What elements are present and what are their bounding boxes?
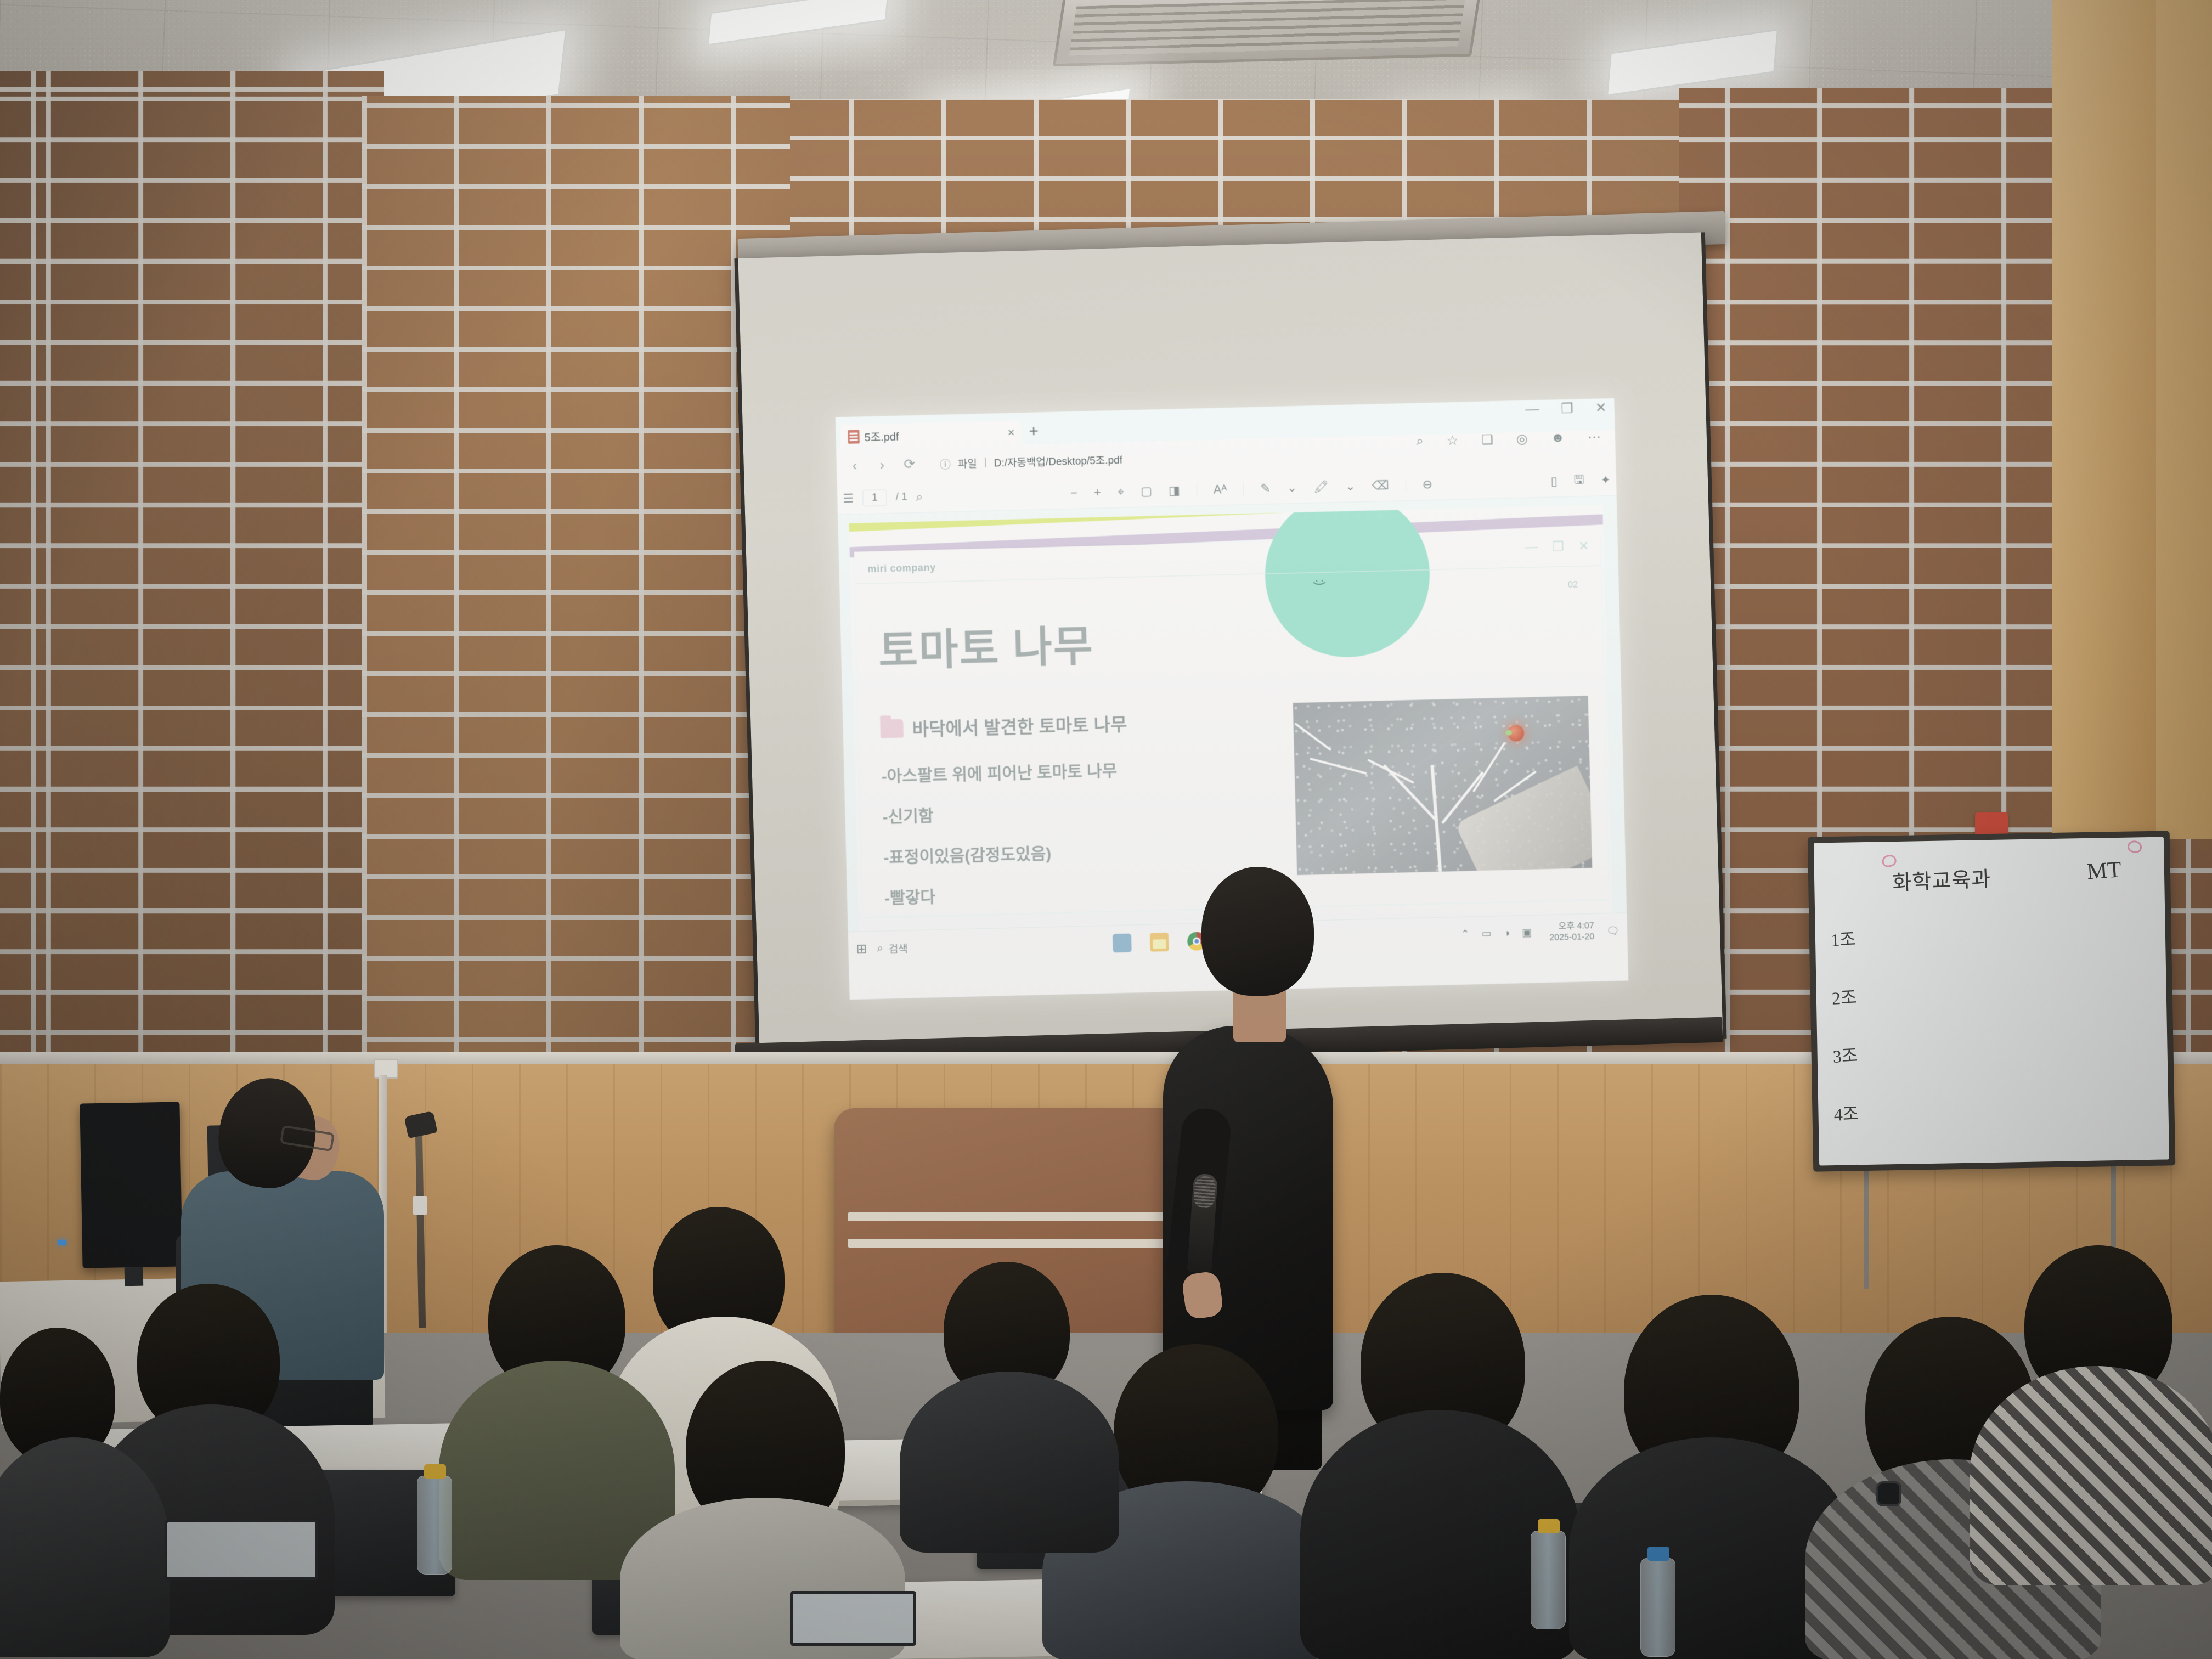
whiteboard-surface: 화학교육과 MT 1조 2조 3조 4조 5조 bbox=[1814, 837, 2169, 1165]
windows-start-icon[interactable]: ⊞ bbox=[856, 941, 867, 957]
slide-window-controls: — ❐ ✕ bbox=[1525, 538, 1589, 556]
address-separator: | bbox=[984, 456, 987, 469]
zoom-in-icon[interactable]: + bbox=[1094, 485, 1101, 499]
water-bottle bbox=[417, 1476, 452, 1575]
page-view-icon[interactable]: ◨ bbox=[1169, 483, 1180, 498]
slide-bullet: -표정이있음(감정도있음) bbox=[883, 834, 1272, 868]
pdf-page-area: :) — ❐ ✕ miri company 02 토마토 나무 + bbox=[838, 496, 1627, 932]
more-tools-icon[interactable]: ▯ bbox=[1550, 474, 1558, 488]
whiteboard-team-row: 5조 bbox=[1834, 1158, 1860, 1165]
taskbar-app-icons bbox=[932, 925, 1461, 957]
lecture-room-scene: 5조.pdf × + — ❐ ✕ ‹ › ⟳ ⓘ 파일 | bbox=[0, 0, 2212, 1659]
browser-essentials-icon[interactable]: ◎ bbox=[1516, 431, 1528, 448]
slide-card: :) — ❐ ✕ miri company 02 토마토 나무 + bbox=[854, 533, 1609, 917]
whiteboard-subtitle: MT bbox=[2086, 856, 2122, 885]
bottle-cap bbox=[424, 1464, 446, 1479]
microphone-clip bbox=[413, 1196, 427, 1215]
whiteboard-title: 화학교육과 bbox=[1892, 862, 1991, 896]
water-bottle bbox=[1531, 1531, 1566, 1629]
slide-header-rule bbox=[855, 565, 1601, 584]
draw-icon[interactable]: ✎ bbox=[1260, 481, 1271, 495]
pdf-page-total: / 1 bbox=[895, 491, 907, 504]
whiteboard-team-row: 2조 bbox=[1831, 984, 1858, 1010]
reading-mode-icon[interactable]: ⊖ bbox=[1422, 477, 1432, 491]
taskbar-search-label: 검색 bbox=[888, 941, 908, 956]
copilot-icon[interactable]: ✦ bbox=[1600, 472, 1611, 487]
laptop[interactable] bbox=[165, 1520, 318, 1580]
clock-date: 2025-01-20 bbox=[1549, 931, 1594, 943]
slide-page-number: 02 bbox=[1567, 579, 1578, 590]
slide-smiley-face: :) bbox=[1313, 579, 1328, 585]
slide-photo-tomato-branch bbox=[1291, 694, 1594, 877]
settings-more-icon[interactable]: ⋯ bbox=[1588, 429, 1601, 445]
wall-shading bbox=[362, 96, 790, 1204]
network-icon[interactable]: ▭ bbox=[1481, 928, 1492, 940]
address-url-text: D:/자동백업/Desktop/5조.pdf bbox=[994, 452, 1122, 470]
slide-section-heading-text: 바닥에서 발견한 토마토 나무 bbox=[912, 710, 1127, 742]
pdf-page-controls: ☰ 1 / 1 ⌕ bbox=[843, 486, 1041, 507]
laptop[interactable] bbox=[790, 1591, 916, 1646]
slide-minimize-icon: — bbox=[1525, 539, 1538, 556]
tab-close-icon[interactable]: × bbox=[996, 425, 1014, 440]
slide-section-heading: 바닥에서 발견한 토마토 나무 bbox=[880, 706, 1268, 742]
file-explorer-icon[interactable] bbox=[1149, 932, 1169, 951]
pc-power-led bbox=[58, 1240, 66, 1245]
notification-icon[interactable]: 🗨 bbox=[1606, 924, 1620, 938]
whiteboard-team-row: 3조 bbox=[1832, 1042, 1858, 1068]
pdf-action-group: ▯ 🖫 ✦ bbox=[1463, 469, 1611, 494]
minimize-button[interactable]: — bbox=[1525, 401, 1539, 418]
left-brick-wall bbox=[0, 71, 384, 1218]
laptop-screen bbox=[167, 1522, 315, 1577]
pdf-page-current[interactable]: 1 bbox=[862, 489, 887, 506]
whiteboard-team-row: 4조 bbox=[1833, 1099, 1859, 1126]
slide-title: 토마토 나무 bbox=[878, 612, 1094, 679]
address-kind-label: 파일 bbox=[958, 455, 978, 471]
read-aloud-icon[interactable]: Aᴬ bbox=[1213, 482, 1227, 497]
fit-to-page-icon[interactable]: ⌖ bbox=[1118, 484, 1125, 499]
draw-color-chevron-down-icon[interactable]: ⌄ bbox=[1287, 480, 1297, 494]
whiteboard: 화학교육과 MT 1조 2조 3조 4조 5조 bbox=[1808, 831, 2176, 1171]
flower-doodle-icon bbox=[2126, 839, 2143, 854]
close-button[interactable]: ✕ bbox=[1595, 399, 1607, 416]
zoom-out-icon[interactable]: − bbox=[1070, 486, 1077, 500]
whiteboard-leg bbox=[1864, 1163, 1869, 1289]
maximize-button[interactable]: ❐ bbox=[1561, 400, 1573, 417]
collections-icon[interactable]: ❏ bbox=[1481, 432, 1493, 448]
erase-icon[interactable]: ⌫ bbox=[1372, 478, 1389, 493]
bottle-cap bbox=[1647, 1547, 1669, 1561]
slide-bullet: -신기함 bbox=[882, 794, 1271, 827]
new-tab-button[interactable]: + bbox=[1029, 422, 1039, 441]
show-hidden-icons-chevron-up-icon[interactable]: ⌃ bbox=[1461, 928, 1470, 941]
search-icon[interactable]: ⌕ bbox=[1416, 433, 1424, 449]
smartwatch bbox=[1876, 1481, 1901, 1506]
left-corner-brick-wall bbox=[362, 96, 790, 1204]
save-icon[interactable]: 🖫 bbox=[1573, 470, 1584, 491]
site-info-icon[interactable]: ⓘ bbox=[939, 455, 951, 471]
clock-time: 오후 4:07 bbox=[1549, 920, 1594, 932]
profile-icon[interactable]: ☻ bbox=[1550, 430, 1565, 447]
highlight-color-chevron-down-icon[interactable]: ⌄ bbox=[1345, 479, 1356, 493]
whiteboard-team-list: 1조 2조 3조 4조 5조 bbox=[1831, 926, 1861, 1165]
search-icon: ⌕ bbox=[877, 943, 883, 955]
slide-green-blob-shape bbox=[1263, 505, 1431, 659]
pdf-favicon-icon bbox=[848, 430, 860, 444]
pdf-tool-group: − + ⌖ ▢ ◨ Aᴬ ✎ ⌄ 🖍 ⌄ ⌫ ⊖ bbox=[1040, 476, 1463, 501]
browser-tab[interactable]: 5조.pdf × bbox=[840, 420, 1022, 449]
reload-icon[interactable]: ⟳ bbox=[901, 456, 918, 473]
slide-brand-label: miri company bbox=[867, 562, 936, 575]
window-controls: — ❐ ✕ bbox=[1525, 399, 1607, 418]
water-bottle bbox=[1640, 1558, 1675, 1657]
highlight-icon[interactable]: 🖍 bbox=[1313, 479, 1329, 494]
back-icon[interactable]: ‹ bbox=[847, 458, 864, 474]
forward-icon[interactable]: › bbox=[874, 457, 891, 473]
toolbar-divider bbox=[1196, 483, 1197, 497]
pdf-find-icon[interactable]: ⌕ bbox=[916, 489, 923, 504]
slide-close-icon: ✕ bbox=[1578, 538, 1589, 554]
taskbar-search[interactable]: ⌕ 검색 bbox=[877, 941, 908, 956]
laptop-screen bbox=[793, 1594, 913, 1643]
bottle-cap bbox=[1538, 1519, 1560, 1533]
favorite-icon[interactable]: ☆ bbox=[1447, 433, 1459, 449]
ceiling-ac-vent bbox=[1053, 0, 1482, 66]
volume-icon[interactable]: ◑ bbox=[1503, 927, 1510, 939]
taskbar-clock[interactable]: 오후 4:07 2025-01-20 bbox=[1549, 920, 1595, 943]
wall-shading bbox=[0, 71, 384, 1218]
presentation-slide: :) — ❐ ✕ miri company 02 토마토 나무 + bbox=[849, 505, 1612, 931]
slide-bullet: -아스팔트 위에 피어난 토마토 나무 bbox=[881, 753, 1269, 787]
battery-icon[interactable]: ▣ bbox=[1522, 927, 1532, 939]
slide-maximize-icon: ❐ bbox=[1552, 539, 1564, 555]
sidebar-toggle-icon[interactable]: ☰ bbox=[843, 491, 854, 505]
taskbar-system-tray: ⌃ ▭ ◑ ▣ 오후 4:07 2025-01-20 🗨 bbox=[1460, 919, 1620, 945]
wooden-pillar bbox=[2052, 0, 2156, 861]
tab-title: 5조.pdf bbox=[864, 427, 899, 444]
fit-to-width-icon[interactable]: ▢ bbox=[1141, 484, 1152, 499]
toolbar-divider bbox=[1405, 478, 1406, 492]
task-view-icon[interactable] bbox=[1112, 933, 1131, 952]
desktop-monitor bbox=[80, 1102, 182, 1268]
wooden-pillar-side bbox=[2156, 0, 2212, 839]
presenter-head bbox=[1201, 867, 1314, 996]
whiteboard-team-row: 1조 bbox=[1830, 926, 1857, 952]
folder-icon bbox=[880, 719, 904, 738]
toolbar-divider bbox=[1243, 482, 1244, 496]
